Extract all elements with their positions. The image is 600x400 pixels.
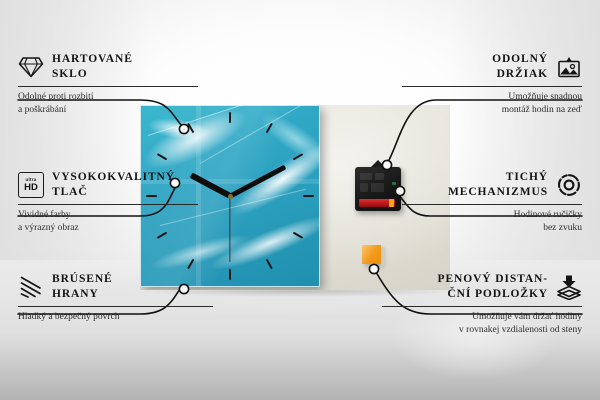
feature-polished-edges: BRÚSENÉ HRANY Hladký a bezpečný povrch (18, 272, 213, 324)
feature-title-line2: DRŽIAK (497, 67, 548, 82)
feature-silent-mechanism: TICHÝ MECHANIZMUS Hodinové r (402, 170, 582, 234)
diamond-icon (18, 54, 44, 80)
feature-desc-line1: Odolné proti rozbití (18, 91, 198, 104)
feature-title-line2: ČNÍ PODLOŽKY (447, 287, 548, 302)
feature-title-line2: SKLO (52, 67, 133, 82)
diagonal-lines-icon (18, 274, 44, 300)
feature-durable-hanger: ODOLNÝ DRŽIAK Umožňuje snadnou montáž ho… (402, 52, 582, 116)
feature-desc-line1: Hladký a bezpečný povrch (18, 311, 213, 324)
connector-dot-tempered-glass (179, 124, 188, 133)
ultra-hd-icon: ultra HD (18, 172, 44, 198)
picture-hanger-icon (556, 54, 582, 80)
feature-desc-line1: Umožňuje snadnou (402, 91, 582, 104)
feature-desc-line2: a výrazný obraz (18, 222, 198, 235)
feature-title-line2: TLAČ (52, 185, 175, 200)
ultra-hd-large-text: HD (24, 183, 38, 193)
gear-icon (556, 172, 582, 198)
feature-divider (382, 306, 582, 307)
press-layers-icon (556, 274, 582, 300)
connector-dot-foam (369, 264, 378, 273)
feature-title-line1: TICHÝ (506, 170, 548, 185)
feature-title-line1: BRÚSENÉ (52, 272, 113, 287)
feature-title-line2: MECHANIZMUS (448, 185, 548, 200)
feature-title-line1: ODOLNÝ (492, 52, 548, 67)
feature-divider (18, 86, 198, 87)
feature-desc-line2: v rovnakej vzdialenosti od steny (382, 324, 582, 337)
feature-divider (18, 306, 213, 307)
feature-divider (402, 204, 582, 205)
feature-divider (18, 204, 198, 205)
infographic-canvas: HARTOVANÉ SKLO Odolné proti rozbití a po… (0, 0, 600, 400)
feature-desc-line2: bez zvuku (402, 222, 582, 235)
feature-desc-line2: montáž hodin na zeď (402, 104, 582, 117)
feature-desc-line1: Hodinové ručičky (402, 209, 582, 222)
feature-title-line1: VYSOKOKVALITNÝ (52, 170, 175, 185)
feature-desc-line1: Umožňuje vám držať hodiny (382, 311, 582, 324)
feature-tempered-glass: HARTOVANÉ SKLO Odolné proti rozbití a po… (18, 52, 198, 116)
feature-title-line2: HRANY (52, 287, 113, 302)
feature-title-line1: PENOVÝ DISTAN- (438, 272, 548, 287)
feature-high-quality-print: ultra HD VYSOKOKVALITNÝ TLAČ Vividné far… (18, 170, 198, 234)
feature-title-line1: HARTOVANÉ (52, 52, 133, 67)
connector-dot-hanger (382, 160, 391, 169)
feature-foam-spacers: PENOVÝ DISTAN- ČNÍ PODLOŽKY Umožňuje vám… (382, 272, 582, 336)
feature-desc-line1: Vividné farby (18, 209, 198, 222)
feature-desc-line2: a poškrábání (18, 104, 198, 117)
feature-divider (402, 86, 582, 87)
